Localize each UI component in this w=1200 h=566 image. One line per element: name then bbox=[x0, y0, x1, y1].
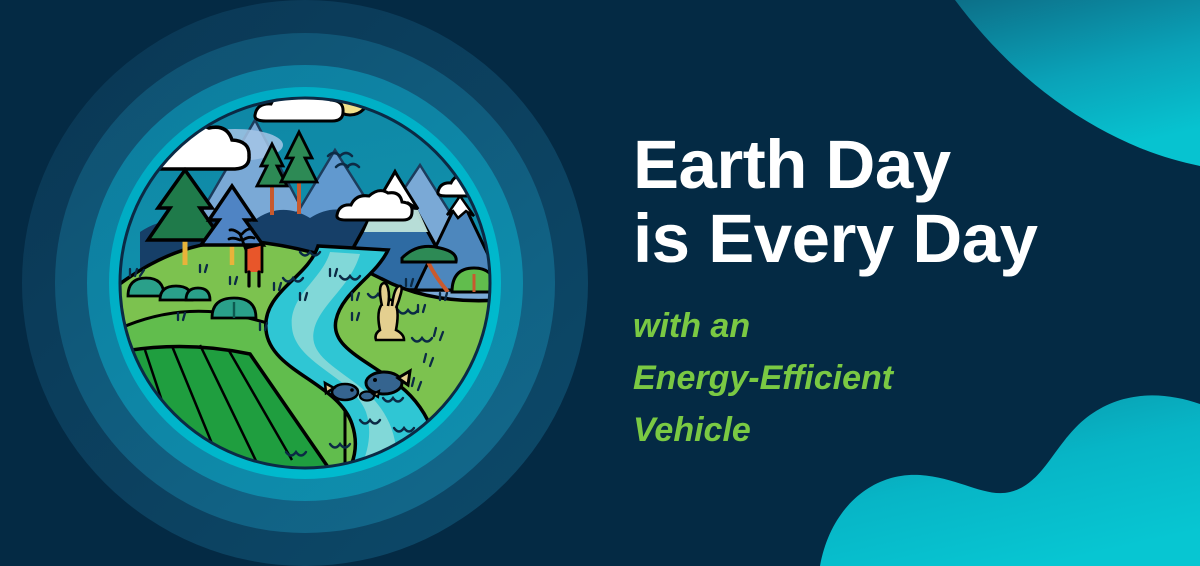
subheadline-line-2: Energy-Efficient bbox=[633, 352, 1153, 404]
text-block: Earth Day is Every Day with an Energy-Ef… bbox=[633, 128, 1153, 456]
bush-cluster-mid bbox=[212, 298, 256, 318]
subheadline-line-3: Vehicle bbox=[633, 404, 1153, 456]
headline-line-2: is Every Day bbox=[633, 202, 1153, 276]
subheadline-line-1: with an bbox=[633, 300, 1153, 352]
headline-line-1: Earth Day bbox=[633, 128, 1153, 202]
earth-day-banner: Earth Day is Every Day with an Energy-Ef… bbox=[0, 0, 1200, 566]
subheadline-block: with an Energy-Efficient Vehicle bbox=[633, 300, 1153, 456]
